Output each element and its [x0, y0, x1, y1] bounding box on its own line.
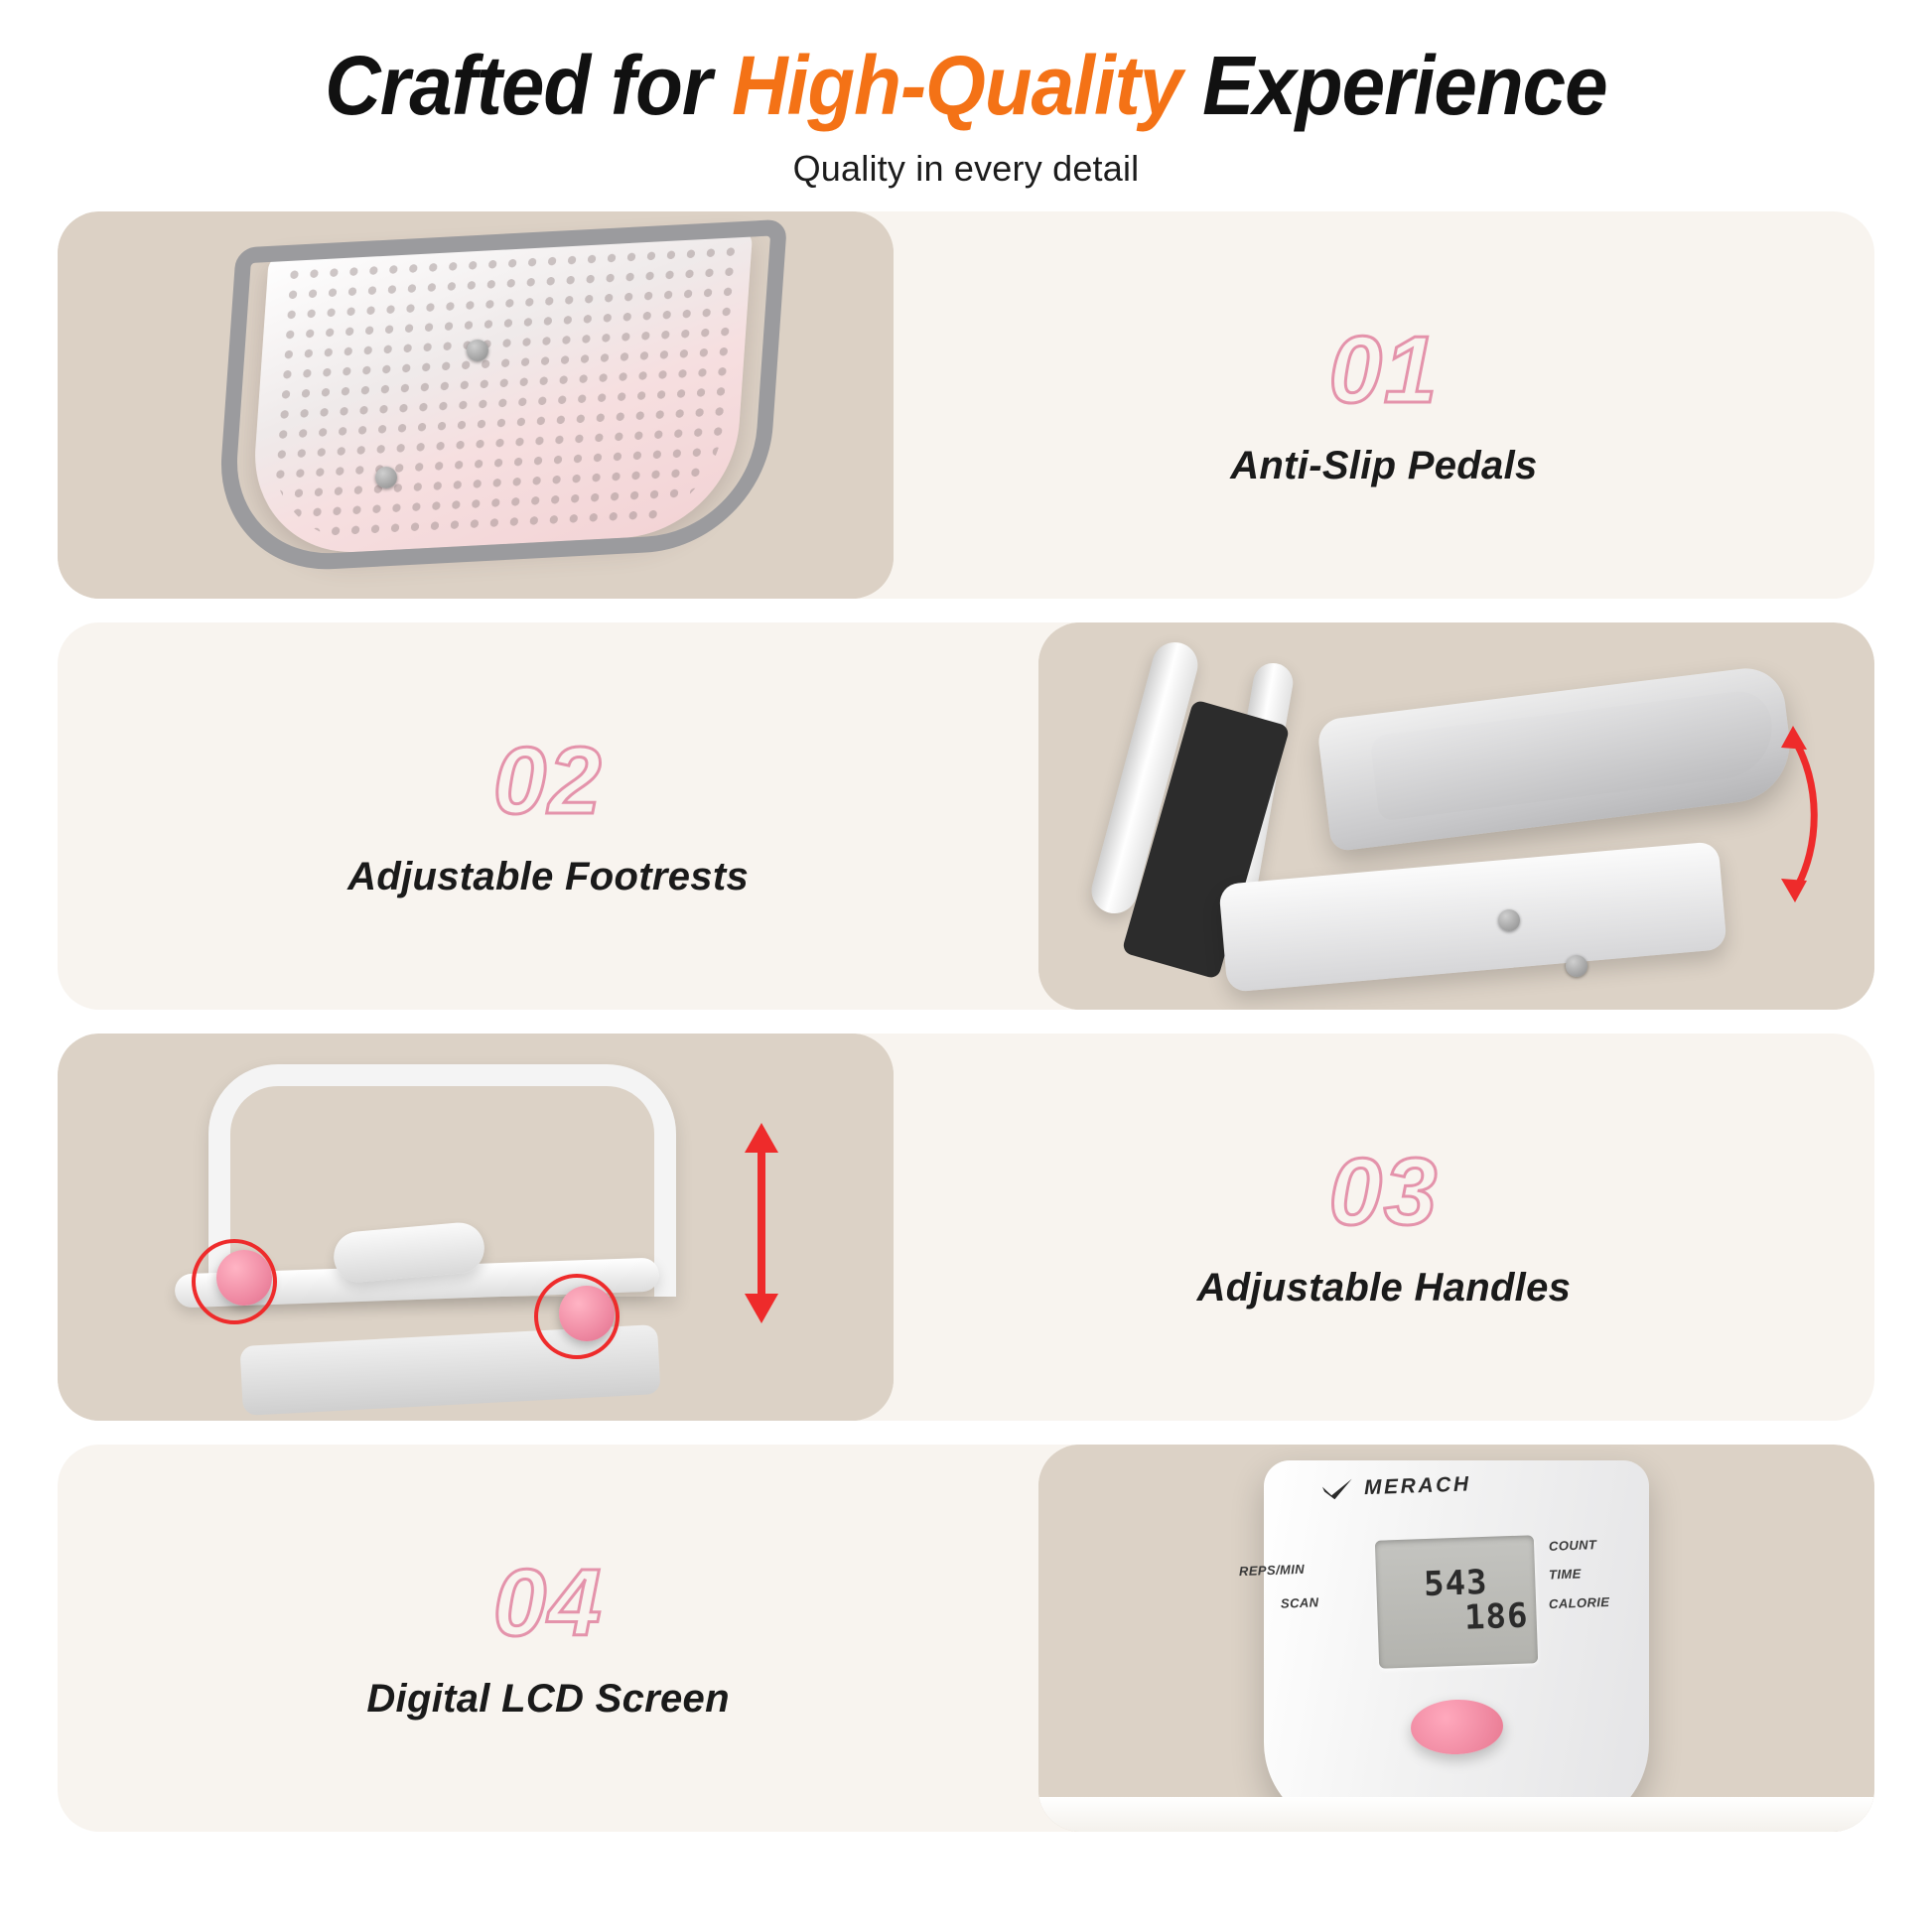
- highlight-ring-right: [534, 1274, 620, 1359]
- lcd-label-scan: SCAN: [1281, 1594, 1319, 1610]
- digital-lcd-screen-photo: MERACH 543 186 REPS/MIN SCAN COUNT TIME …: [1038, 1445, 1874, 1832]
- card-caption: Adjustable Footrests: [347, 855, 749, 899]
- lcd-value-bottom: 186: [1385, 1598, 1529, 1639]
- pedal-rim: [213, 219, 787, 575]
- card-text-side: 01 Anti-Slip Pedals: [894, 211, 1874, 599]
- card-caption: Anti-Slip Pedals: [1230, 444, 1537, 488]
- lcd-label-calorie: CALORIE: [1548, 1594, 1609, 1611]
- card-number: 02: [493, 734, 604, 829]
- card-number: 03: [1329, 1145, 1440, 1240]
- lcd-label-reps-min: REPS/MIN: [1239, 1562, 1306, 1579]
- title-highlight: High-Quality: [732, 39, 1181, 132]
- card-number: 01: [1329, 323, 1440, 418]
- anti-slip-pedal-photo: [58, 211, 894, 599]
- merach-logo-text: MERACH: [1364, 1473, 1472, 1501]
- height-arrow-icon: [730, 1119, 793, 1327]
- title-part-two: Experience: [1181, 39, 1606, 132]
- highlight-ring-left: [192, 1239, 277, 1324]
- feature-card-digital-lcd-screen: MERACH 543 186 REPS/MIN SCAN COUNT TIME …: [58, 1445, 1874, 1832]
- lcd-display: 543 186: [1375, 1535, 1538, 1668]
- page-header: Crafted for High-Quality Experience Qual…: [0, 0, 1932, 190]
- card-number: 04: [493, 1556, 604, 1651]
- adjustable-handles-photo: [58, 1034, 894, 1421]
- tilt-arrow-icon: [1763, 720, 1833, 908]
- feature-card-adjustable-handles: 03 Adjustable Handles: [58, 1034, 1874, 1421]
- floor-surface: [1038, 1797, 1874, 1832]
- lcd-label-time: TIME: [1548, 1566, 1581, 1582]
- bracket-screw-icon: [1566, 955, 1587, 977]
- card-text-side: 04 Digital LCD Screen: [58, 1445, 1038, 1832]
- feature-card-adjustable-footrests: 02 Adjustable Footrests: [58, 622, 1874, 1010]
- bracket-screw-icon: [1498, 909, 1520, 931]
- feature-card-list: 01 Anti-Slip Pedals 02 Adjustable Footre…: [58, 211, 1874, 1832]
- merach-checkmark-icon: [1322, 1479, 1357, 1500]
- feature-card-anti-slip-pedals: 01 Anti-Slip Pedals: [58, 211, 1874, 599]
- card-caption: Adjustable Handles: [1197, 1266, 1572, 1311]
- card-text-side: 03 Adjustable Handles: [894, 1034, 1874, 1421]
- card-text-side: 02 Adjustable Footrests: [58, 622, 1038, 1010]
- page-subtitle: Quality in every detail: [0, 148, 1932, 190]
- lcd-label-count: COUNT: [1548, 1537, 1596, 1554]
- card-caption: Digital LCD Screen: [366, 1677, 729, 1722]
- adjustable-footrest-photo: [1038, 622, 1874, 1010]
- title-part-one: Crafted for: [325, 39, 732, 132]
- page-title: Crafted for High-Quality Experience: [68, 42, 1864, 130]
